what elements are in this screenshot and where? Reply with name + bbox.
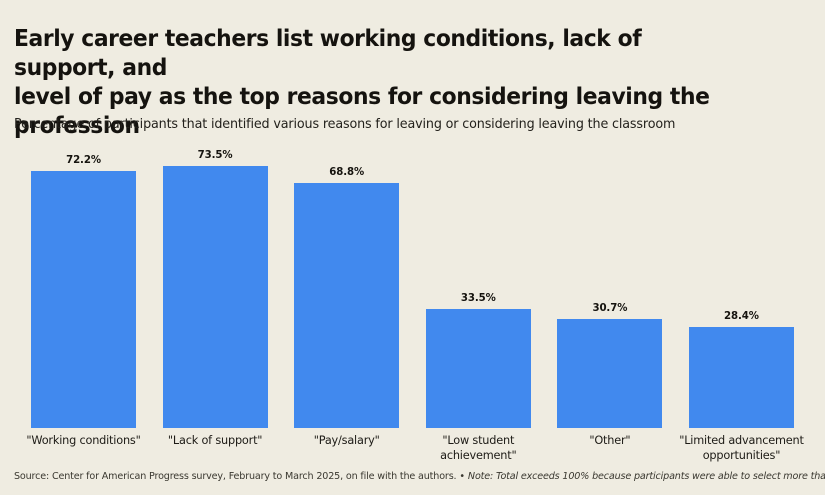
chart-subtitle: Percentage of participants that identifi… — [14, 116, 675, 133]
bar-group[interactable]: 72.2%"Working conditions" — [31, 150, 136, 428]
bar-group[interactable]: 28.4%"Limited advancement opportunities" — [689, 150, 794, 428]
bar-value-label: 72.2% — [31, 155, 136, 166]
bar-category-label: "Other" — [539, 434, 680, 449]
source-text: Source: Center for American Progress sur… — [14, 471, 456, 482]
bar-category-label: "Limited advancement opportunities" — [671, 434, 812, 463]
bar[interactable] — [31, 171, 136, 428]
bar[interactable] — [426, 309, 531, 428]
bar-group[interactable]: 30.7%"Other" — [557, 150, 662, 428]
bar-value-label: 33.5% — [426, 293, 531, 304]
chart-footnote: Source: Center for American Progress sur… — [14, 470, 814, 483]
chart-page: Early career teachers list working condi… — [0, 0, 825, 495]
bar-group[interactable]: 33.5%"Low student achievement" — [426, 150, 531, 428]
bar-series: 72.2%"Working conditions"73.5%"Lack of s… — [31, 150, 794, 428]
bar-category-label: "Low student achievement" — [408, 434, 549, 463]
bar-category-label: "Pay/salary" — [276, 434, 417, 449]
bar[interactable] — [163, 166, 268, 428]
bar-category-label: "Lack of support" — [145, 434, 286, 449]
bar-category-label: "Working conditions" — [13, 434, 154, 449]
bar[interactable] — [557, 319, 662, 428]
bar-value-label: 68.8% — [294, 167, 399, 178]
plot-area: 72.2%"Working conditions"73.5%"Lack of s… — [0, 150, 825, 450]
bar-value-label: 28.4% — [689, 311, 794, 322]
bar-group[interactable]: 68.8%"Pay/salary" — [294, 150, 399, 428]
note-text: Note: Total exceeds 100% because partici… — [468, 471, 825, 482]
bar[interactable] — [689, 327, 794, 428]
chart-header: Early career teachers list working condi… — [14, 24, 804, 140]
bar-group[interactable]: 73.5%"Lack of support" — [163, 150, 268, 428]
bar[interactable] — [294, 183, 399, 428]
bar-value-label: 73.5% — [163, 150, 268, 161]
bar-value-label: 30.7% — [557, 303, 662, 314]
footnote-separator: • — [456, 471, 468, 482]
